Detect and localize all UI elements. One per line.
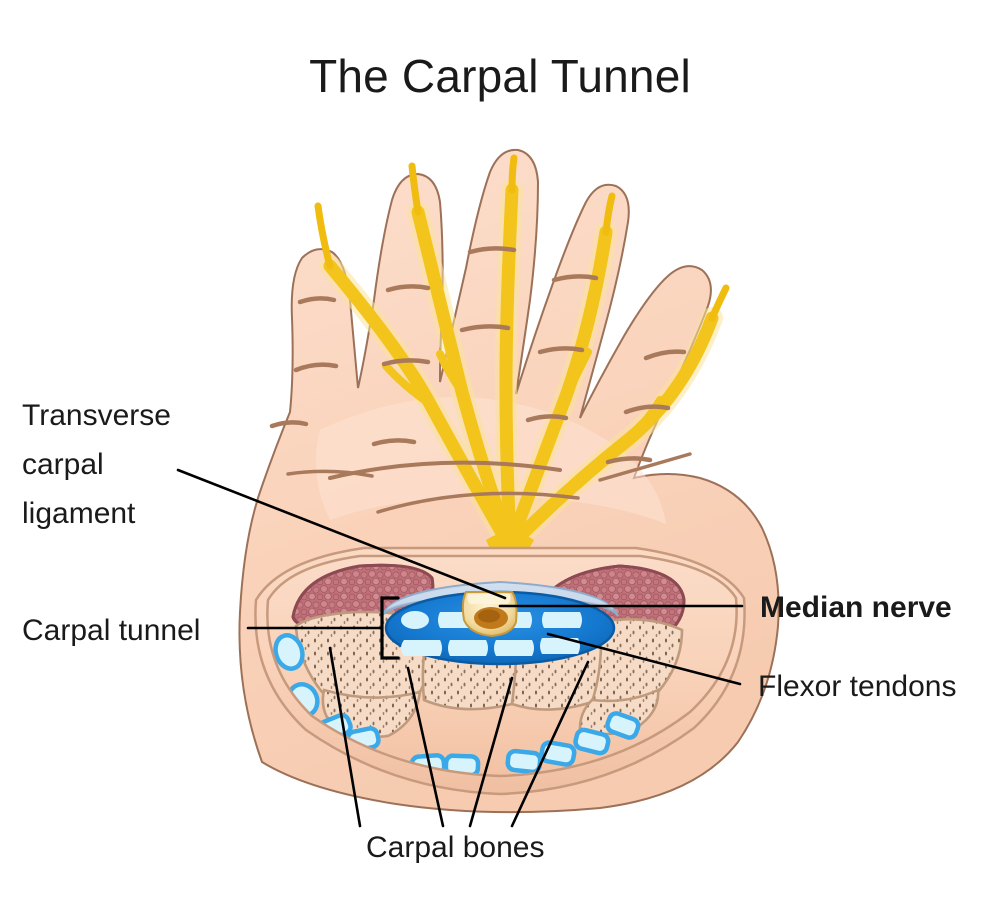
flexor-tendon xyxy=(448,640,488,656)
carpal-tunnel-diagram: The Carpal Tunnel xyxy=(0,0,1000,912)
tendon-sheath xyxy=(507,750,541,772)
label-carpal-bones: Carpal bones xyxy=(366,831,544,864)
flexor-tendon xyxy=(401,611,429,629)
flexor-tendon xyxy=(401,640,442,656)
label-flexor-tendons: Flexor tendons xyxy=(758,670,956,703)
carpal-tunnel-cavity xyxy=(386,592,614,664)
flexor-tendon xyxy=(494,640,534,656)
hand-illustration xyxy=(239,150,778,812)
label-median-nerve: Median nerve xyxy=(760,591,952,624)
page-title: The Carpal Tunnel xyxy=(309,50,691,102)
label-transverse-carpal-ligament-line3: ligament xyxy=(22,497,136,530)
label-transverse-carpal-ligament-line2: carpal xyxy=(22,448,104,481)
label-transverse-carpal-ligament-line1: Transverse xyxy=(22,399,171,432)
flexor-tendon xyxy=(542,612,582,628)
median-nerve-cross-section xyxy=(463,592,517,636)
label-carpal-tunnel: Carpal tunnel xyxy=(22,614,200,647)
